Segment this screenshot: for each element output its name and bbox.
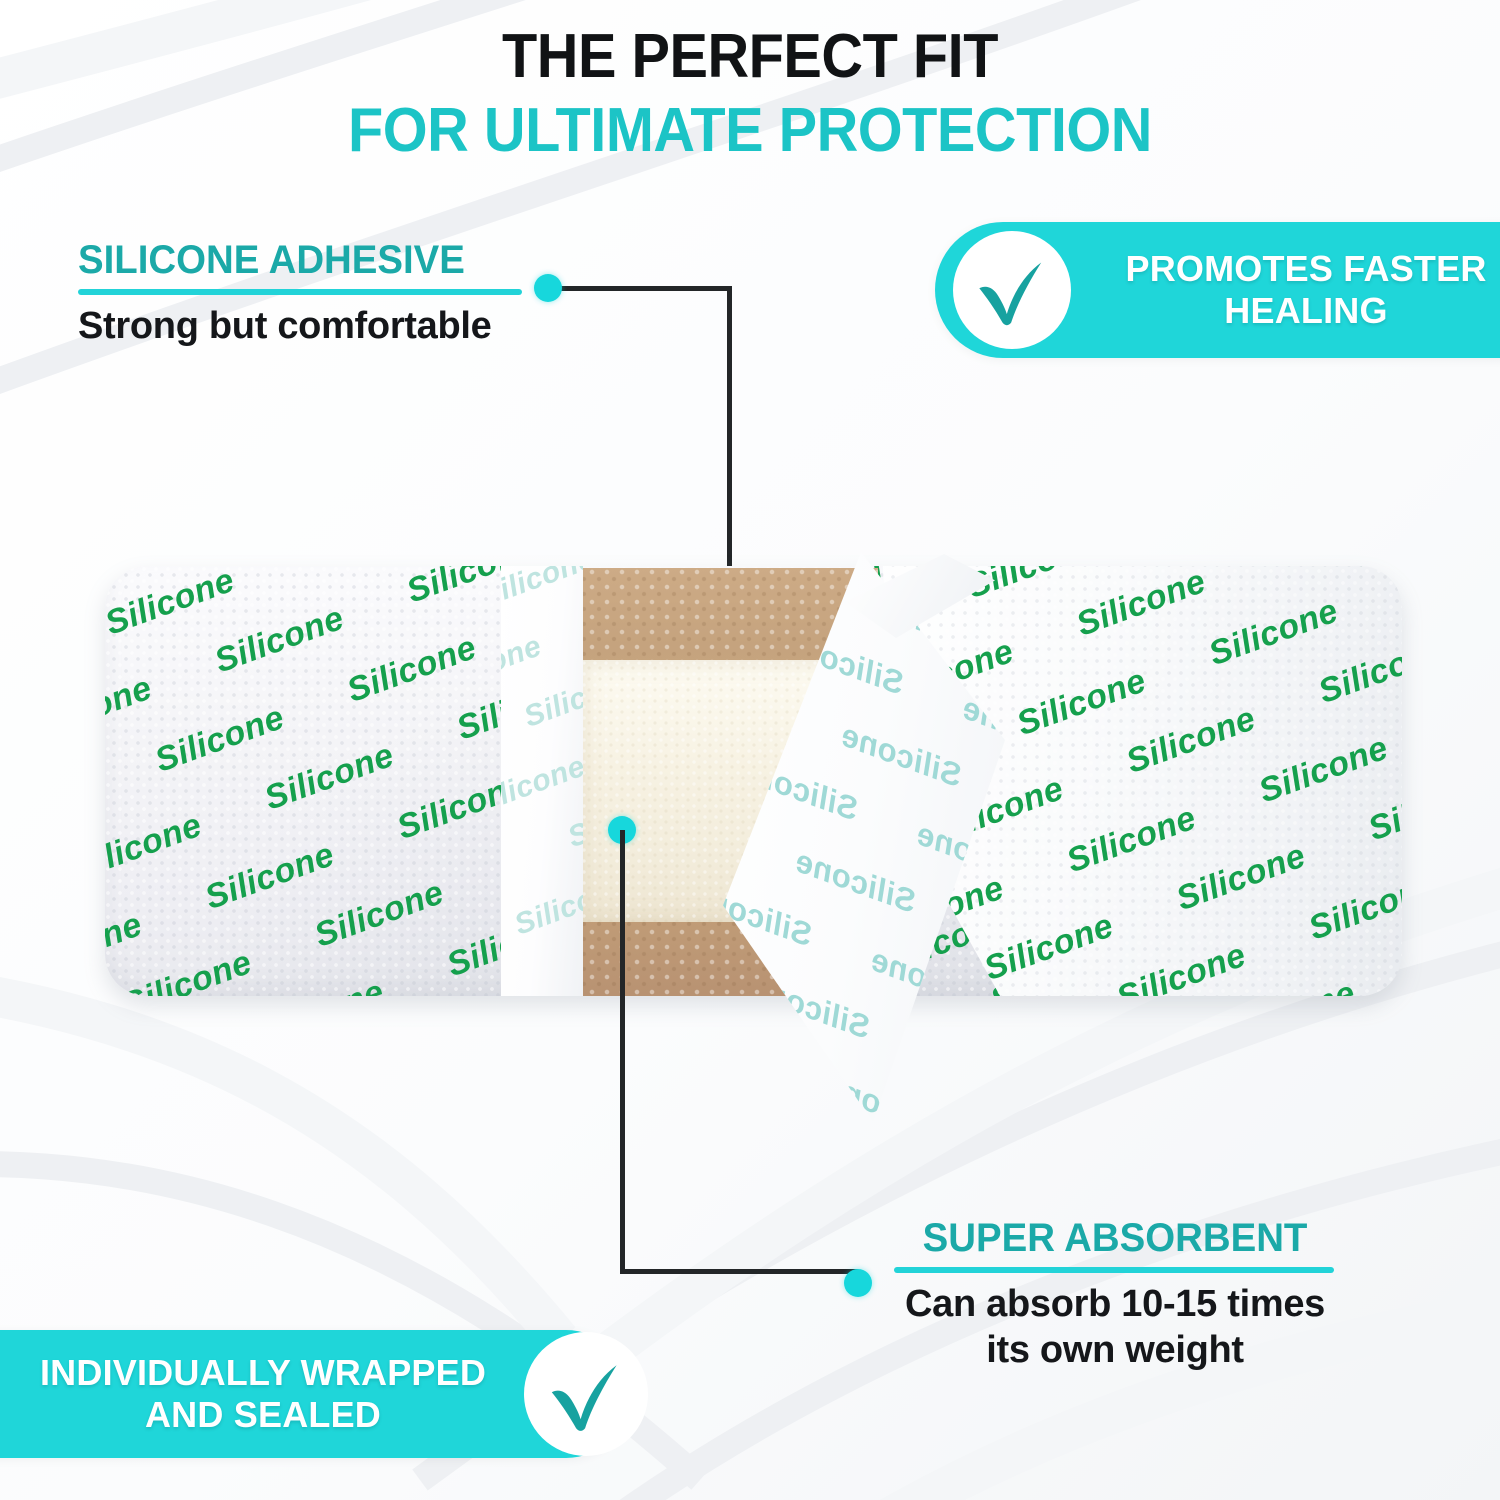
infographic-canvas: THE PERFECT FIT FOR ULTIMATE PROTECTION … [0,0,1500,1500]
check-icon [541,1349,631,1439]
badge-individually-wrapped-and-sealed: INDIVIDUALLY WRAPPED AND SEALED [0,1330,630,1458]
callout-silicone-adhesive: SILICONE ADHESIVE Strong but comfortable [78,240,528,349]
callout-underline [78,289,522,295]
silicone-bandage-product: SiliconeSiliconeSiliconeSiliconeSilicone… [105,566,1402,996]
badge-line1: PROMOTES FASTER [1089,248,1500,290]
connector-line-vertical-bottom [620,830,625,1272]
badge-text: INDIVIDUALLY WRAPPED AND SEALED [0,1352,524,1436]
callout-super-absorbent: SUPER ABSORBENT Can absorb 10-15 times i… [890,1218,1340,1374]
connector-line-horizontal-bottom [620,1269,858,1274]
page-title-line1: THE PERFECT FIT [53,26,1448,88]
check-circle [953,231,1071,349]
check-circle [524,1332,648,1456]
liner-seam-left: SiliconeSiliconeSiliconeSiliconeSilicone… [501,566,583,996]
callout-dot-adhesive-label [534,274,562,302]
connector-line-vertical-top [727,286,732,586]
callout-body-line2: its own weight [890,1327,1340,1373]
callout-body: Strong but comfortable [78,303,528,349]
callout-underline [894,1267,1334,1273]
badge-line1: INDIVIDUALLY WRAPPED [16,1352,510,1394]
callout-body-line1: Can absorb 10-15 times [890,1281,1340,1327]
callout-heading: SUPER ABSORBENT [899,1218,1331,1258]
badge-line2: HEALING [1089,290,1500,332]
connector-line-horizontal-top [548,286,730,291]
badge-promotes-faster-healing: PROMOTES FASTER HEALING [935,222,1500,358]
page-title-line2: FOR ULTIMATE PROTECTION [53,100,1448,162]
callout-heading: SILICONE ADHESIVE [78,240,510,280]
callout-dot-absorbent-label [844,1269,872,1297]
title-block: THE PERFECT FIT FOR ULTIMATE PROTECTION [0,26,1500,162]
liner-corner-curl [845,554,995,674]
badge-line2: AND SEALED [16,1394,510,1436]
badge-text: PROMOTES FASTER HEALING [1071,248,1500,332]
check-icon [969,247,1055,333]
